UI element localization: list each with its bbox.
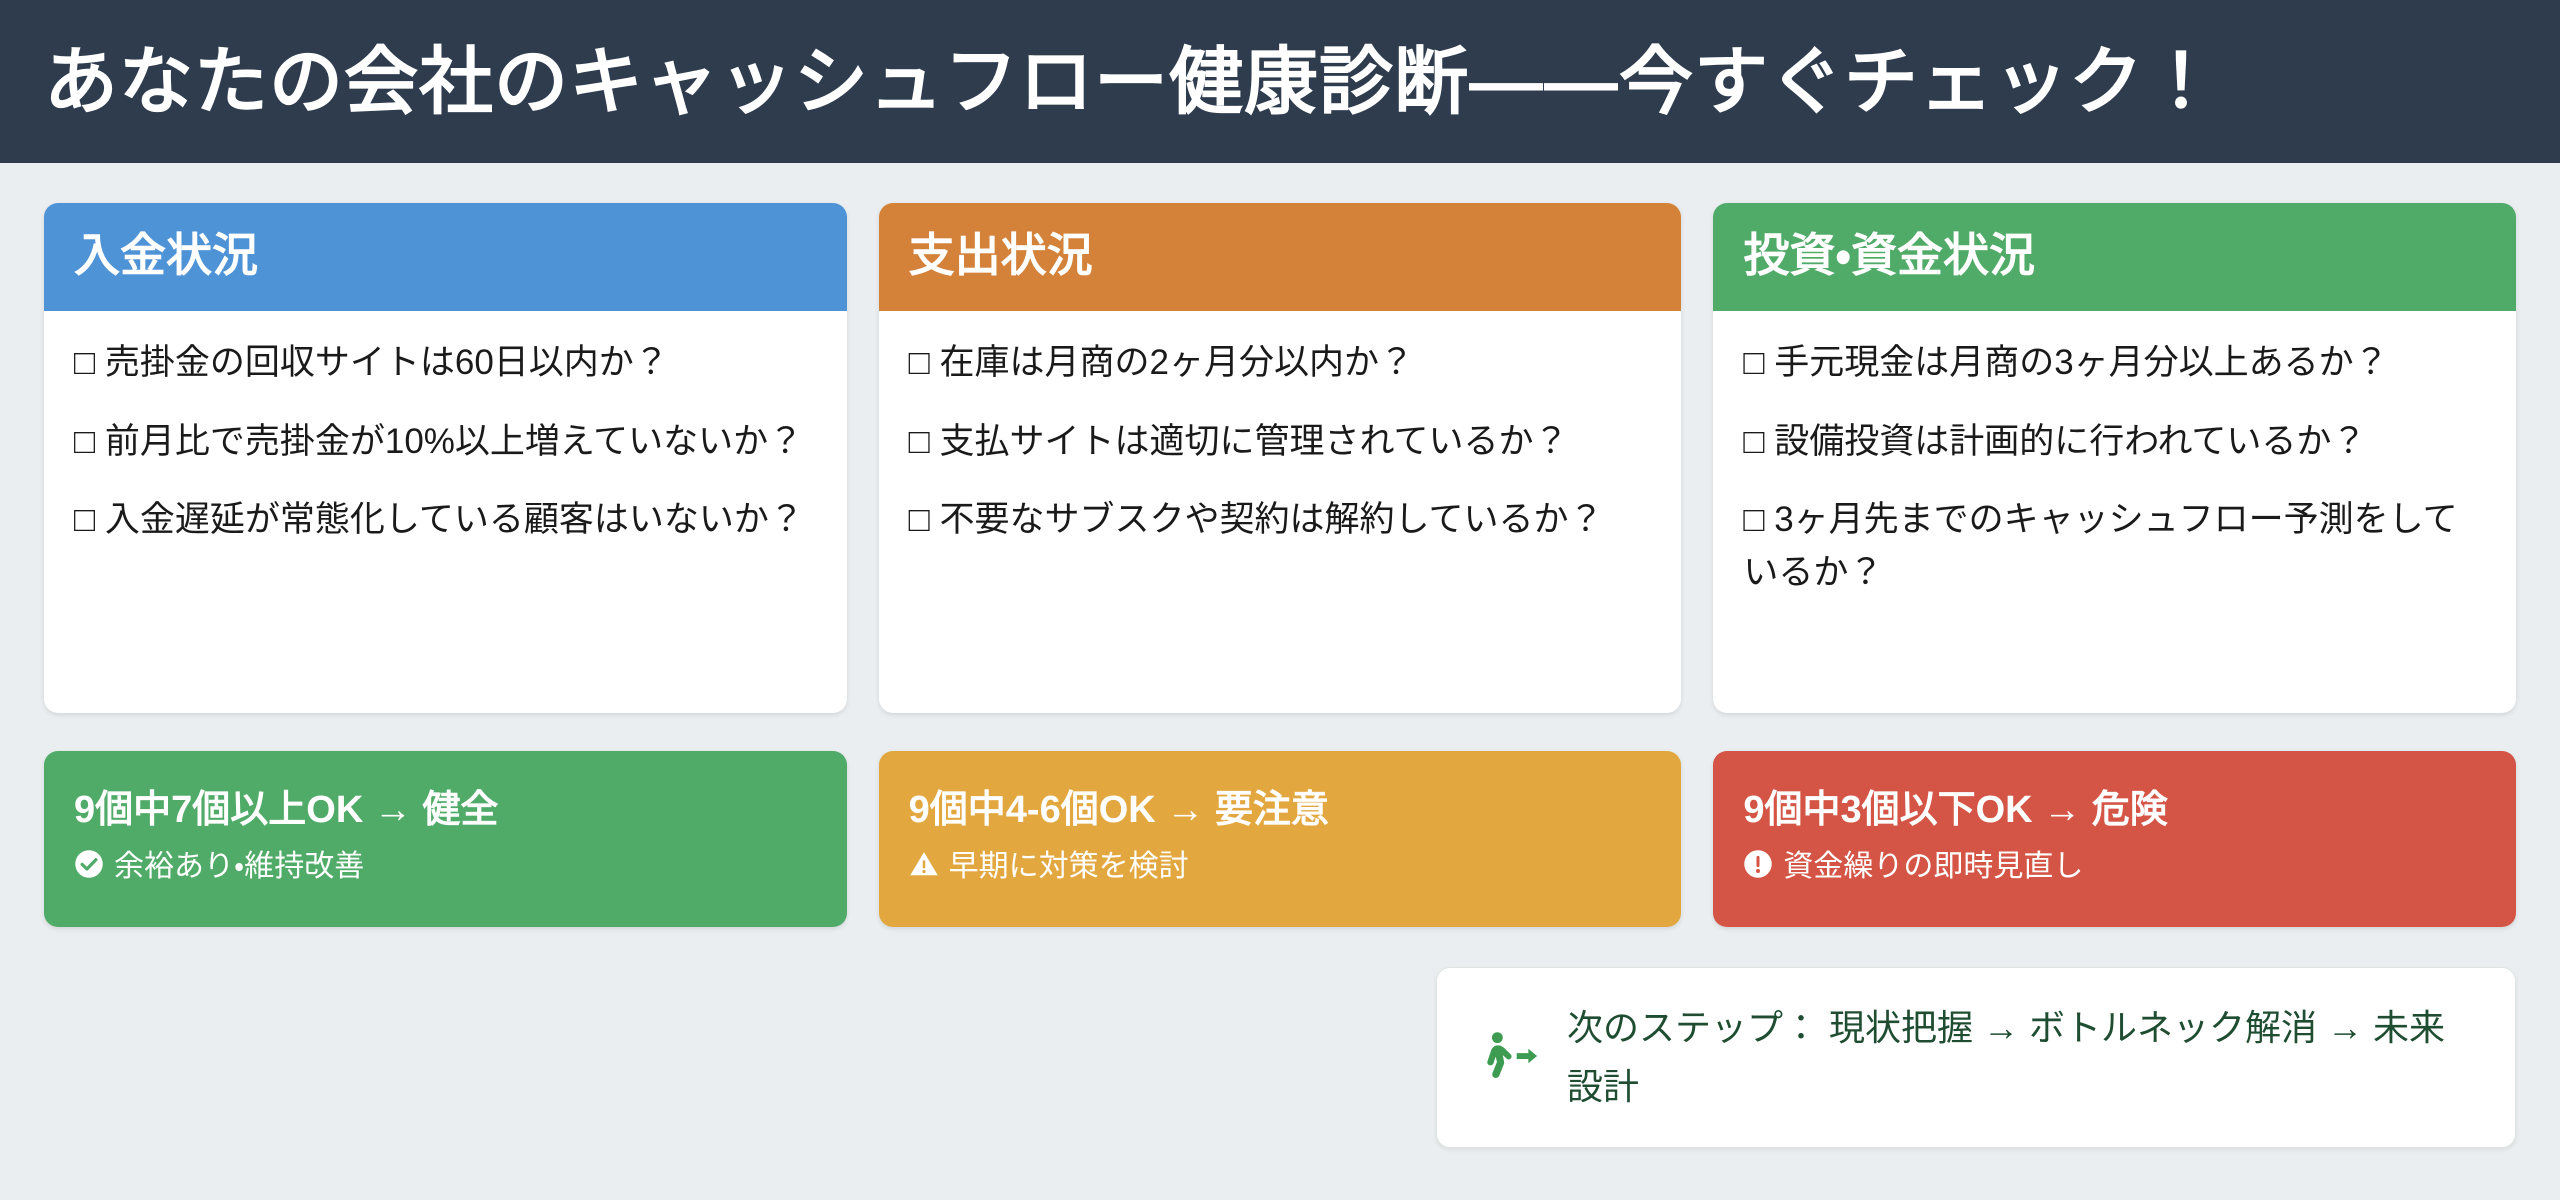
status-banner-title: 9個中7個以上OK → 健全 xyxy=(74,788,817,834)
card-body-investment: □ 手元現金は月商の3ヶ月分以上あるか？ □ 設備投資は計画的に行われているか？… xyxy=(1713,311,2516,629)
status-banner-title: 9個中4-6個OK → 要注意 xyxy=(909,788,1652,834)
checklist-item[interactable]: □ 手元現金は月商の3ヶ月分以上あるか？ xyxy=(1743,337,2486,390)
checklist-item[interactable]: □ 在庫は月商の2ヶ月分以内か？ xyxy=(909,337,1652,390)
status-banner-subtitle-row: 早期に対策を検討 xyxy=(909,847,1652,886)
checklist-item[interactable]: □ 前月比で売掛金が10%以上増えていないか？ xyxy=(74,416,817,469)
checklist-item[interactable]: □ 入金遅延が常態化している顧客はいないか？ xyxy=(74,494,817,547)
checklist-card-income: 入金状況 □ 売掛金の回収サイトは60日以内か？ □ 前月比で売掛金が10%以上… xyxy=(44,203,847,713)
status-banner-danger: 9個中3個以下OK → 危険 資金繰りの即時見直し xyxy=(1713,751,2516,927)
checklist-card-grid: 入金状況 □ 売掛金の回収サイトは60日以内か？ □ 前月比で売掛金が10%以上… xyxy=(44,203,2516,713)
checklist-item[interactable]: □ 3ヶ月先までのキャッシュフロー予測をしているか？ xyxy=(1743,494,2486,599)
page-title: あなたの会社のキャッシュフロー健康診断——今すぐチェック！ xyxy=(44,43,2219,121)
card-body-income: □ 売掛金の回収サイトは60日以内か？ □ 前月比で売掛金が10%以上増えていな… xyxy=(44,311,847,577)
card-body-expense: □ 在庫は月商の2ヶ月分以内か？ □ 支払サイトは適切に管理されているか？ □ … xyxy=(879,311,1682,577)
status-banner-subtitle-row: 資金繰りの即時見直し xyxy=(1743,847,2486,886)
exclamation-circle-icon xyxy=(1743,849,1773,885)
checklist-card-expense: 支出状況 □ 在庫は月商の2ヶ月分以内か？ □ 支払サイトは適切に管理されている… xyxy=(879,203,1682,713)
walking-person-arrow-icon xyxy=(1477,1026,1539,1088)
next-step-text: 次のステップ： 現状把握 → ボトルネック解消 → 未来設計 xyxy=(1567,998,2475,1117)
check-circle-icon xyxy=(74,849,104,885)
card-title-expense: 支出状況 xyxy=(909,230,1093,281)
page-header: あなたの会社のキャッシュフロー健康診断——今すぐチェック！ xyxy=(0,0,2560,163)
checklist-item[interactable]: □ 設備投資は計画的に行われているか？ xyxy=(1743,416,2486,469)
status-banner-subtitle-row: 余裕あり・維持改善 xyxy=(74,847,817,886)
status-banner-title: 9個中3個以下OK → 危険 xyxy=(1743,788,2486,834)
status-banner-grid: 9個中7個以上OK → 健全 余裕あり・維持改善 9個中4-6個OK → 要注意 xyxy=(44,751,2516,927)
content-area: 入金状況 □ 売掛金の回収サイトは60日以内か？ □ 前月比で売掛金が10%以上… xyxy=(0,163,2560,1148)
warning-triangle-icon xyxy=(909,849,939,885)
next-step-card: 次のステップ： 現状把握 → ボトルネック解消 → 未来設計 xyxy=(1436,967,2516,1148)
card-title-investment: 投資・資金状況 xyxy=(1743,230,2035,281)
card-header-expense: 支出状況 xyxy=(879,203,1682,311)
status-banner-subtitle: 余裕あり・維持改善 xyxy=(114,847,364,886)
infographic-page: あなたの会社のキャッシュフロー健康診断——今すぐチェック！ 入金状況 □ 売掛金… xyxy=(0,0,2560,1200)
checklist-card-investment: 投資・資金状況 □ 手元現金は月商の3ヶ月分以上あるか？ □ 設備投資は計画的に… xyxy=(1713,203,2516,713)
status-banner-subtitle: 早期に対策を検討 xyxy=(949,847,1189,886)
checklist-item[interactable]: □ 不要なサブスクや契約は解約しているか？ xyxy=(909,494,1652,547)
card-header-income: 入金状況 xyxy=(44,203,847,311)
status-banner-healthy: 9個中7個以上OK → 健全 余裕あり・維持改善 xyxy=(44,751,847,927)
card-header-investment: 投資・資金状況 xyxy=(1713,203,2516,311)
checklist-item[interactable]: □ 支払サイトは適切に管理されているか？ xyxy=(909,416,1652,469)
card-title-income: 入金状況 xyxy=(74,230,258,281)
status-banner-subtitle: 資金繰りの即時見直し xyxy=(1783,847,2083,886)
status-banner-caution: 9個中4-6個OK → 要注意 早期に対策を検討 xyxy=(879,751,1682,927)
checklist-item[interactable]: □ 売掛金の回収サイトは60日以内か？ xyxy=(74,337,817,390)
next-step-row: 次のステップ： 現状把握 → ボトルネック解消 → 未来設計 xyxy=(44,967,2516,1148)
